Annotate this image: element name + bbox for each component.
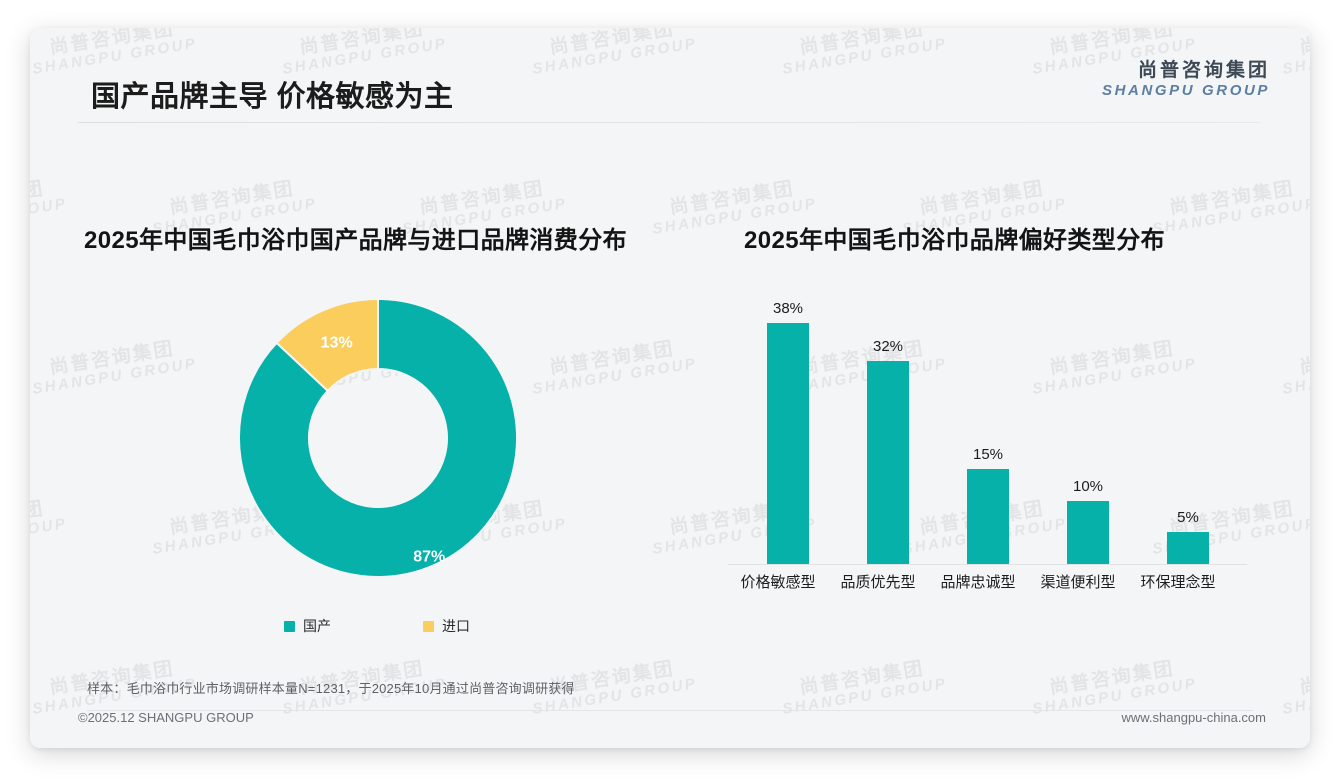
bar-category-label: 环保理念型 <box>1128 571 1228 592</box>
donut-chart-title: 2025年中国毛巾浴巾国产品牌与进口品牌消费分布 <box>84 220 627 255</box>
bar-value-label: 32% <box>873 339 903 354</box>
company-logo: 尚普咨询集团 SHANGPU GROUP <box>1102 60 1270 99</box>
logo-english-text: SHANGPU GROUP <box>1102 82 1270 99</box>
bar-chart-panel: 2025年中国毛巾浴巾品牌偏好类型分布 38%32%15%10%5% 价格敏感型… <box>710 188 1280 658</box>
watermark-text: 尚普咨询集团SHANGPU GROUP <box>1278 335 1310 399</box>
slide-footer: ©2025.12 SHANGPU GROUP www.shangpu-china… <box>30 696 1310 748</box>
footer-copyright: ©2025.12 SHANGPU GROUP <box>78 710 254 725</box>
slide-page: 尚普咨询集团SHANGPU GROUP尚普咨询集团SHANGPU GROUP尚普… <box>0 0 1340 780</box>
bar-value-label: 5% <box>1177 510 1199 525</box>
legend-item-进口[interactable]: 进口 <box>423 616 470 636</box>
bar-category-label: 品质优先型 <box>828 571 928 592</box>
bar-rect[interactable] <box>1067 501 1109 564</box>
donut-chart-panel: 2025年中国毛巾浴巾国产品牌与进口品牌消费分布 87%13% 国产进口 <box>56 188 696 658</box>
legend-swatch-icon <box>284 621 295 632</box>
legend-label: 国产 <box>303 616 331 636</box>
donut-chart: 87%13% <box>239 299 517 577</box>
bar-chart-title: 2025年中国毛巾浴巾品牌偏好类型分布 <box>744 220 1165 255</box>
bar-category-label: 品牌忠诚型 <box>928 571 1028 592</box>
slide-header: 国产品牌主导 价格敏感为主 尚普咨询集团 SHANGPU GROUP <box>30 28 1310 123</box>
donut-legend: 国产进口 <box>284 616 544 636</box>
page-title: 国产品牌主导 价格敏感为主 <box>91 73 454 115</box>
bar-category-label: 价格敏感型 <box>728 571 828 592</box>
legend-item-国产[interactable]: 国产 <box>284 616 331 636</box>
legend-swatch-icon <box>423 621 434 632</box>
bar-chart: 38%32%15%10%5% 价格敏感型品质优先型品牌忠诚型渠道便利型环保理念型 <box>728 283 1262 573</box>
donut-slice-label-进口: 13% <box>321 335 353 352</box>
donut-slice-label-国产: 87% <box>413 548 445 565</box>
footer-website: www.shangpu-china.com <box>1121 710 1266 725</box>
bar-rect[interactable] <box>1167 532 1209 564</box>
legend-label: 进口 <box>442 616 470 636</box>
bar-column-渠道便利型[interactable]: 10% <box>1038 294 1138 564</box>
bar-column-品质优先型[interactable]: 32% <box>838 294 938 564</box>
slide-card: 尚普咨询集团SHANGPU GROUP尚普咨询集团SHANGPU GROUP尚普… <box>30 28 1310 748</box>
bar-value-label: 10% <box>1073 479 1103 494</box>
bar-column-品牌忠诚型[interactable]: 15% <box>938 294 1038 564</box>
bar-rect[interactable] <box>767 323 809 564</box>
header-divider <box>78 122 1260 123</box>
logo-chinese-text: 尚普咨询集团 <box>1102 60 1270 82</box>
bar-column-价格敏感型[interactable]: 38% <box>738 294 838 564</box>
donut-svg: 87%13% <box>239 299 517 577</box>
bar-baseline-axis <box>728 564 1247 565</box>
bar-plot-area: 38%32%15%10%5% <box>728 283 1262 565</box>
bar-rect[interactable] <box>867 361 909 564</box>
bar-value-label: 38% <box>773 301 803 316</box>
bar-category-label: 渠道便利型 <box>1028 571 1128 592</box>
bar-rect[interactable] <box>967 469 1009 564</box>
bar-value-label: 15% <box>973 447 1003 462</box>
bar-category-axis: 价格敏感型品质优先型品牌忠诚型渠道便利型环保理念型 <box>728 571 1247 592</box>
bar-column-环保理念型[interactable]: 5% <box>1138 294 1238 564</box>
